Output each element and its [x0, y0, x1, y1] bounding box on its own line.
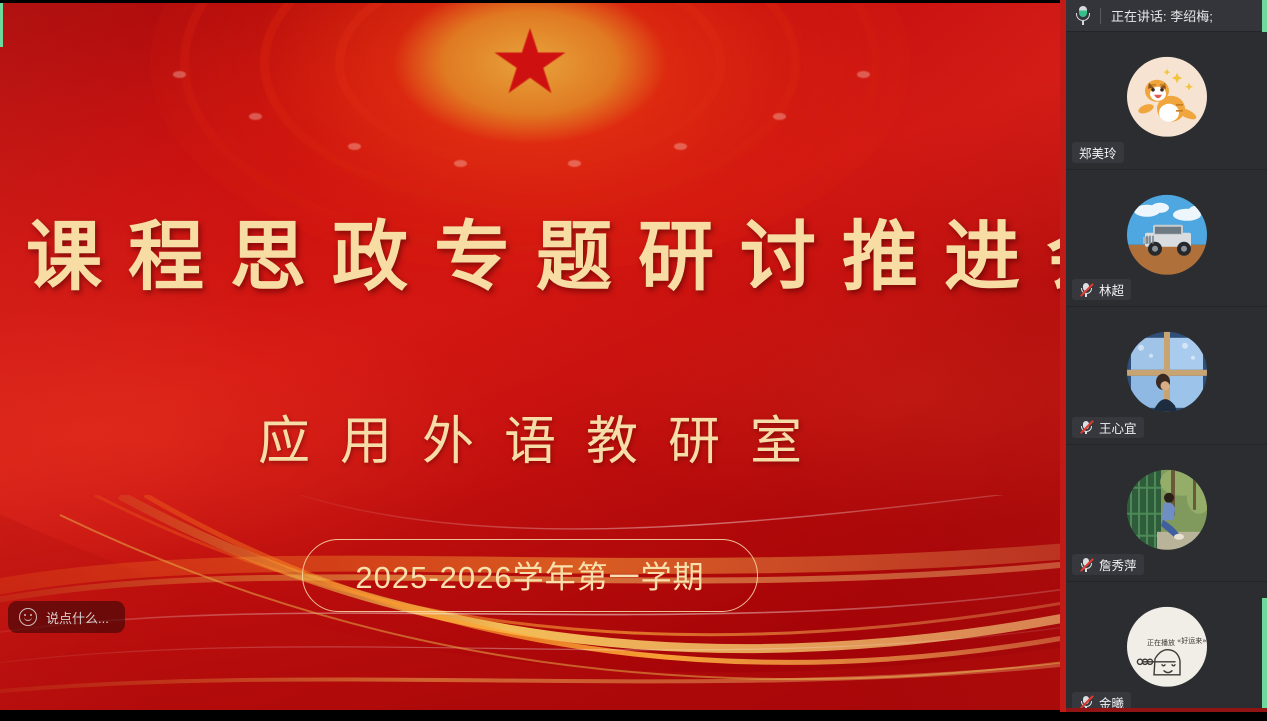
smiley-icon[interactable] [19, 608, 37, 626]
divider [1100, 8, 1101, 24]
participant-tile[interactable]: 詹秀萍 [1066, 445, 1267, 583]
slide-date-badge-wrapper: 2025-2026学年第一学期 [0, 539, 1060, 612]
participant-name: 詹秀萍 [1099, 555, 1137, 574]
participant-name: 林超 [1099, 280, 1124, 299]
slide-title: 课程思政专题研讨推进会 [0, 195, 1060, 305]
sidebar-active-edge-bottom [1262, 598, 1267, 708]
bottom-letterbox [0, 712, 1267, 721]
park-fence-portrait-photo-avatar-icon [1127, 470, 1207, 550]
active-speaker-label: 正在讲话: 李绍梅; [1111, 6, 1213, 25]
sidebar-active-edge-top [1262, 0, 1267, 32]
participant-tile[interactable]: 林超 [1066, 170, 1267, 308]
participant-tile[interactable]: 郑美玲 [1066, 32, 1267, 170]
screen-share-region[interactable]: 课程思政专题研讨推进会 应用外语教研室 2025-2026学年第一学期 说点什么… [0, 0, 1060, 721]
chat-input-placeholder: 说点什么... [46, 608, 109, 627]
cartoon-tiger-avatar-icon [1127, 57, 1207, 137]
presentation-slide: 课程思政专题研讨推进会 应用外语教研室 2025-2026学年第一学期 [0, 3, 1060, 710]
svg-text:«好运来»: «好运来» [1177, 636, 1207, 645]
avatar: 正在播放 «好运来» [1127, 607, 1207, 687]
microphone-muted-icon [1079, 283, 1094, 297]
meeting-window: 课程思政专题研讨推进会 应用外语教研室 2025-2026学年第一学期 说点什么… [0, 0, 1267, 721]
microphone-icon [1075, 6, 1091, 25]
avatar [1127, 470, 1207, 550]
participant-tile[interactable]: 王心宜 [1066, 307, 1267, 445]
participant-name-chip: 郑美玲 [1072, 142, 1124, 163]
participant-name: 王心宜 [1099, 418, 1137, 437]
active-speaker-bar: 正在讲话: 李绍梅; [1066, 0, 1267, 32]
participant-name-chip: 林超 [1072, 279, 1131, 300]
microphone-muted-icon [1079, 420, 1094, 434]
doodle-face-avatar-icon: 正在播放 «好运来» [1127, 607, 1207, 687]
avatar [1127, 195, 1207, 275]
participant-name-chip: 王心宜 [1072, 417, 1144, 438]
slide-date-badge: 2025-2026学年第一学期 [302, 539, 757, 612]
svg-text:正在播放: 正在播放 [1147, 638, 1175, 647]
avatar [1127, 332, 1207, 412]
chat-input[interactable]: 说点什么... [8, 601, 125, 633]
microphone-muted-icon [1079, 695, 1094, 709]
microphone-muted-icon [1079, 558, 1094, 572]
slide-subtitle: 应用外语教研室 [0, 399, 1060, 474]
jeep-desert-photo-avatar-icon [1127, 195, 1207, 275]
participant-tile[interactable]: 正在播放 «好运来» 金曦 [1066, 582, 1267, 720]
participant-name: 郑美玲 [1079, 143, 1117, 162]
avatar [1127, 57, 1207, 137]
share-active-edge-left [0, 3, 3, 47]
window-portrait-photo-avatar-icon [1127, 332, 1207, 412]
participant-name-chip: 詹秀萍 [1072, 554, 1144, 575]
top-letterbox [0, 0, 1060, 3]
participants-sidebar[interactable]: 正在讲话: 李绍梅; [1066, 0, 1267, 721]
